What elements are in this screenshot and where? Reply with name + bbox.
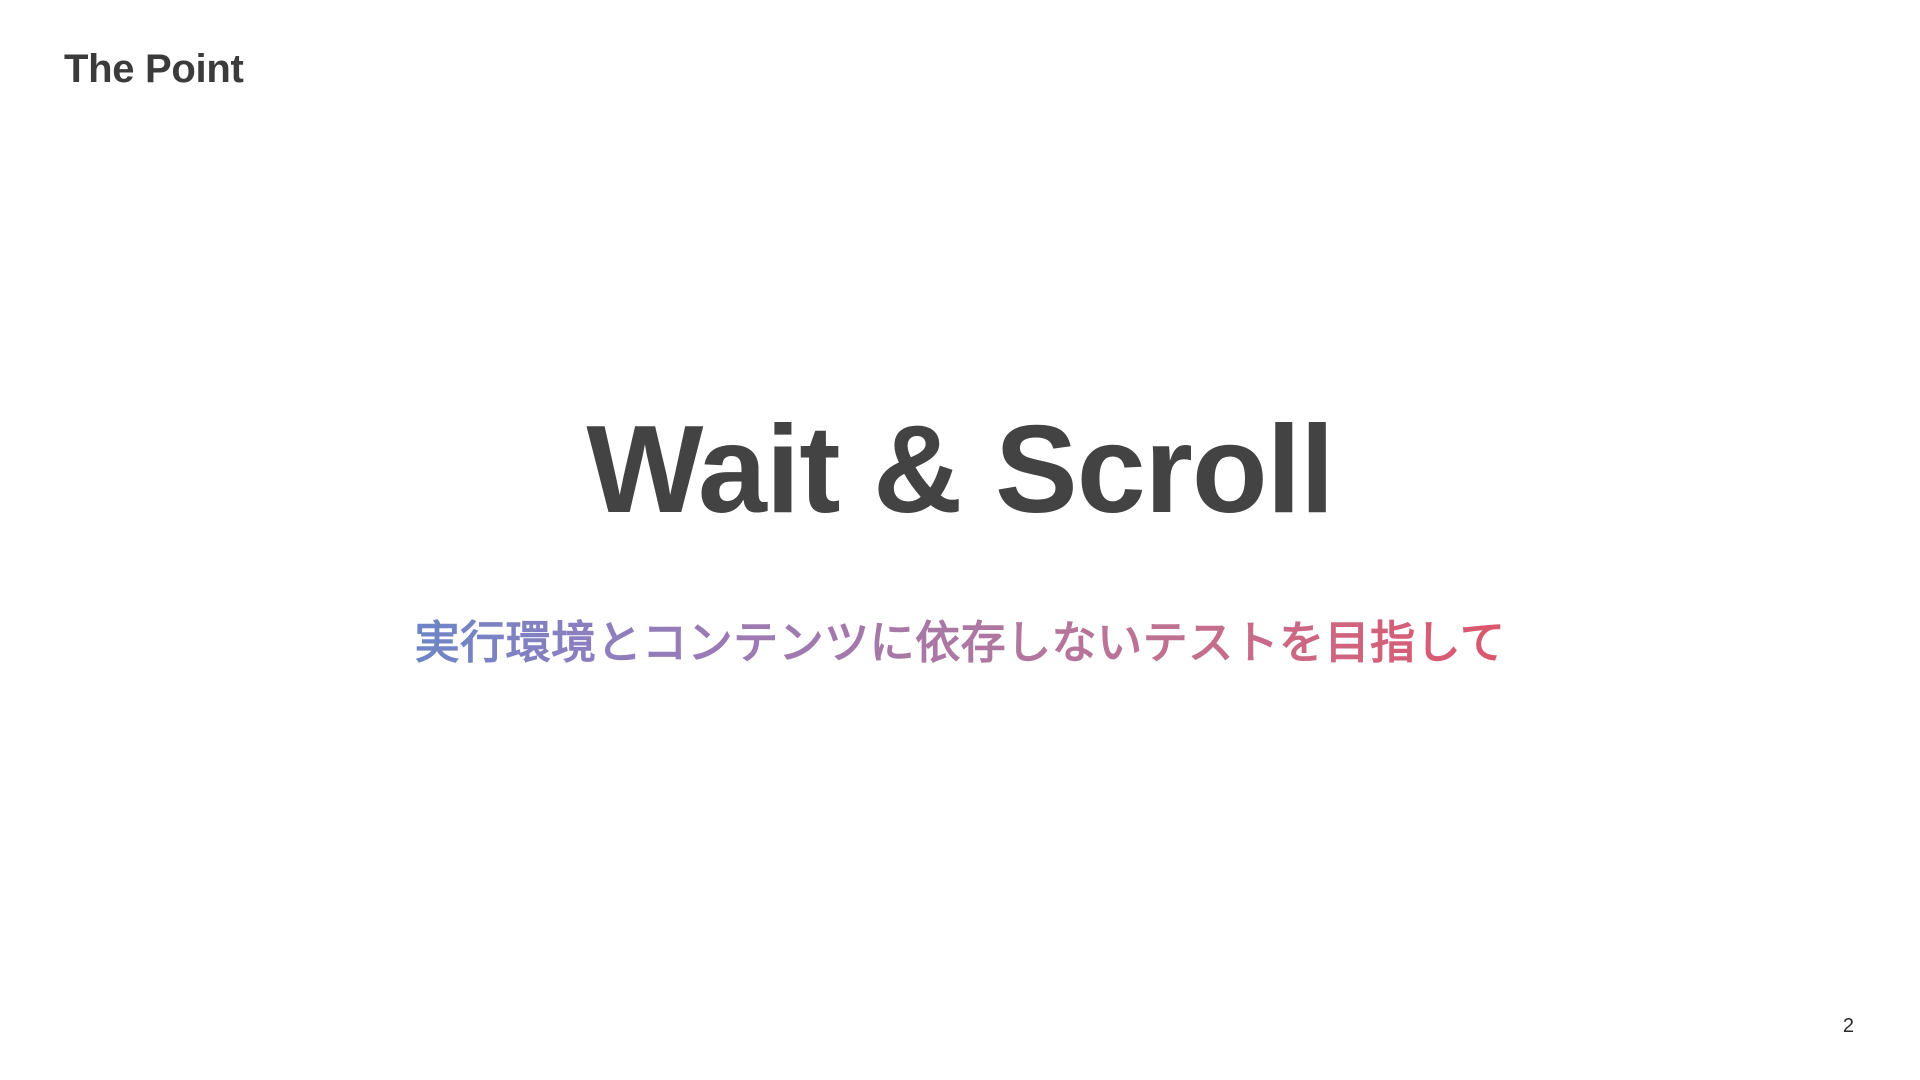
headline: Wait & Scroll (0, 405, 1920, 535)
page-title: The Point (64, 46, 244, 92)
subheadline: 実行環境とコンテンツに依存しないテストを目指して (0, 615, 1920, 671)
slide-header: The Point (0, 0, 1920, 150)
gradient-divider (66, 127, 1902, 134)
slide-body: Wait & Scroll 実行環境とコンテンツに依存しないテストを目指して (0, 150, 1920, 1010)
slide: The Point Wait & Scroll 実行環境とコンテンツに依存しない… (0, 0, 1920, 1080)
page-number: 2 (1843, 1016, 1854, 1036)
